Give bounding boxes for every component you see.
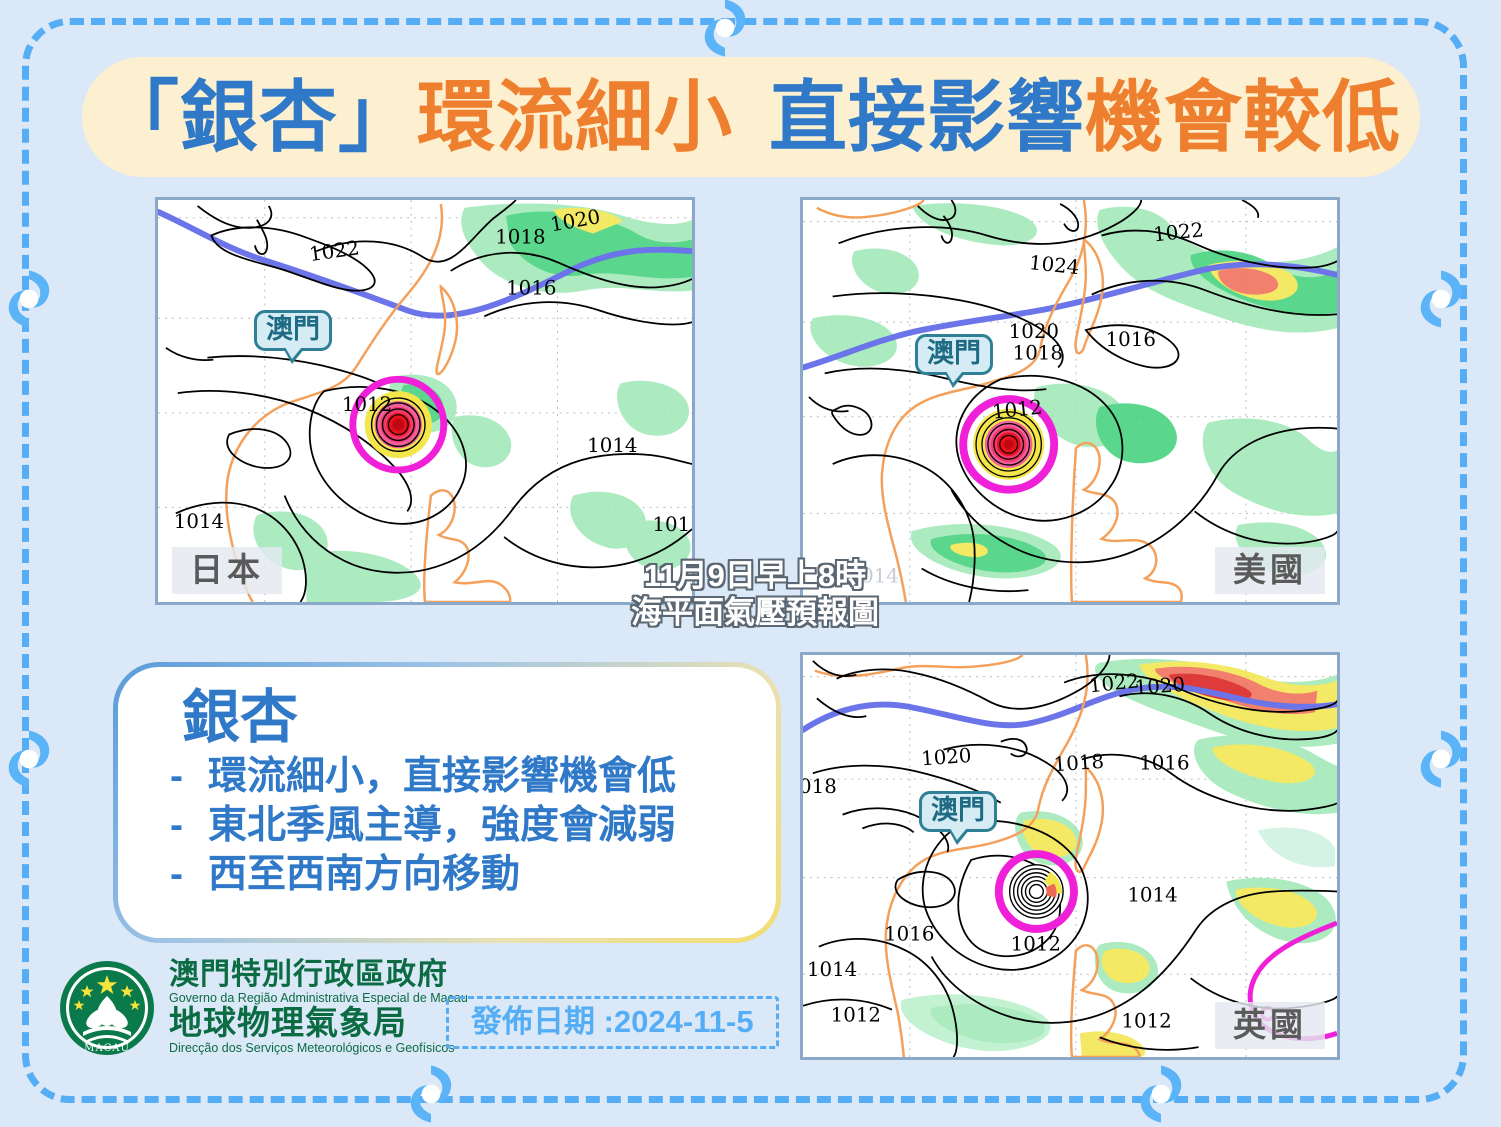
forecast-map-usa[interactable]: 1022 1024 1020 1018 1016 1012 1014 澳門 美國 [800, 197, 1340, 605]
map-canvas-japan: 1022 1020 1018 1016 1012 1014 1014 101 [158, 200, 692, 602]
typhoon-icon [1410, 268, 1472, 330]
list-item: - 環流細小，直接影響機會低 [170, 752, 776, 801]
map-source-label: 日本 [172, 547, 282, 594]
svg-text:1020: 1020 [1009, 320, 1059, 343]
svg-text:1012: 1012 [1121, 1009, 1171, 1032]
svg-text:1016: 1016 [506, 277, 556, 300]
publish-date-badge: 發佈日期 :2024-11-5 [446, 996, 779, 1049]
svg-text:1012: 1012 [342, 393, 392, 416]
list-item: - 東北季風主導，強度會減弱 [170, 801, 776, 850]
org-name-zh-government: 澳門特別行政區政府 [169, 959, 468, 991]
svg-text:MACAU: MACAU [84, 1043, 130, 1054]
typhoon-icon [0, 728, 60, 790]
map-canvas-uk: 1022 1020 1020 1018 018 1016 1016 1014 1… [803, 655, 1337, 1057]
forecast-caption: 11月9日早上8時 海平面氣壓預報圖 [585, 558, 925, 631]
macau-marker: 澳門 [254, 310, 332, 351]
svg-text:1018: 1018 [1053, 750, 1105, 776]
storm-name: 銀杏 [182, 687, 776, 750]
svg-text:1018: 1018 [495, 225, 545, 248]
svg-text:1012: 1012 [1011, 933, 1061, 956]
title-segment-3: 直接影響 [769, 73, 1085, 161]
summary-card: 銀杏 - 環流細小，直接影響機會低 - 東北季風主導，強度會減弱 - 西至西南方… [113, 662, 781, 943]
map-canvas-usa: 1022 1024 1020 1018 1016 1012 1014 [803, 200, 1337, 602]
page-title: 「銀杏」環流細小直接影響機會較低 [101, 78, 1401, 156]
summary-bullet-list: - 環流細小，直接影響機會低 - 東北季風主導，強度會減弱 - 西至西南方向移動 [170, 752, 776, 899]
bullet-dash: - [170, 801, 190, 850]
title-segment-1: 「銀杏」 [101, 73, 417, 161]
org-name-zh-bureau: 地球物理氣象局 [169, 1006, 468, 1041]
bullet-text: 東北季風主導，強度會減弱 [208, 801, 676, 850]
svg-text:1014: 1014 [174, 510, 224, 533]
typhoon-icon [694, 0, 756, 59]
bullet-dash: - [170, 850, 190, 899]
org-name-pt-bureau: Direcção dos Serviços Meteorológicos e G… [169, 1041, 468, 1057]
organisation-name-block: 澳門特別行政區政府 Governo da Região Administrati… [169, 959, 468, 1056]
forecast-map-japan[interactable]: 1022 1020 1018 1016 1012 1014 1014 101 澳… [155, 197, 695, 605]
svg-text:1016: 1016 [884, 923, 934, 946]
title-segment-2: 環流細小 [417, 73, 733, 161]
svg-text:1012: 1012 [831, 1004, 881, 1027]
svg-text:101: 101 [652, 513, 690, 536]
title-banner: 「銀杏」環流細小直接影響機會較低 [82, 57, 1420, 177]
svg-text:1016: 1016 [1106, 328, 1156, 351]
caption-line-1: 11月9日早上8時 [585, 558, 925, 595]
typhoon-icon [1410, 728, 1472, 790]
svg-text:1014: 1014 [807, 958, 857, 981]
poster-canvas: 「銀杏」環流細小直接影響機會較低 [0, 0, 1501, 1127]
svg-text:1020: 1020 [1134, 673, 1186, 699]
macau-marker: 澳門 [919, 791, 997, 832]
svg-text:018: 018 [803, 775, 837, 798]
typhoon-icon [0, 268, 60, 330]
svg-text:1018: 1018 [1013, 342, 1063, 365]
svg-text:1020: 1020 [920, 744, 972, 770]
macau-marker: 澳門 [915, 334, 993, 375]
svg-text:1016: 1016 [1139, 751, 1189, 774]
caption-line-2: 海平面氣壓預報圖 [585, 595, 925, 632]
list-item: - 西至西南方向移動 [170, 850, 776, 899]
bullet-dash: - [170, 752, 190, 801]
typhoon-icon [1130, 1063, 1192, 1125]
forecast-map-uk[interactable]: 1022 1020 1020 1018 018 1016 1016 1014 1… [800, 652, 1340, 1060]
bullet-text: 西至西南方向移動 [208, 850, 520, 899]
title-segment-4: 機會較低 [1085, 73, 1401, 161]
map-source-label: 美國 [1215, 547, 1325, 594]
typhoon-icon [400, 1063, 462, 1125]
organisation-logo-block: MACAU 澳門特別行政區政府 Governo da Região Admini… [57, 958, 468, 1058]
bullet-text: 環流細小，直接影響機會低 [208, 752, 676, 801]
map-source-label: 英國 [1215, 1002, 1325, 1049]
macau-government-emblem-icon: MACAU [57, 958, 157, 1058]
svg-text:1014: 1014 [1127, 883, 1177, 906]
svg-text:1014: 1014 [587, 434, 637, 457]
